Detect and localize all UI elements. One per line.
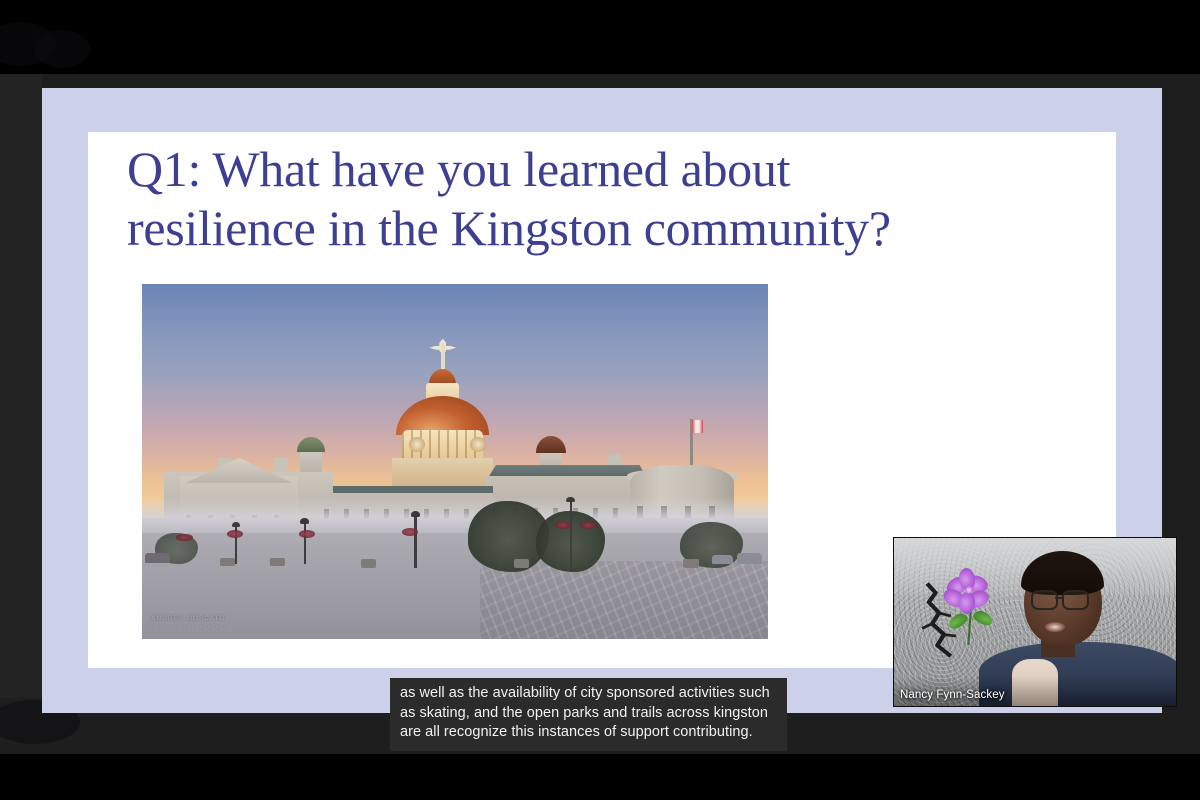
- planter: [361, 559, 376, 568]
- lamp-head: [411, 511, 420, 516]
- app-window-left-gutter: [0, 74, 42, 698]
- cobblestone-texture: [480, 561, 768, 639]
- live-caption-box: as well as the availability of city spon…: [390, 678, 787, 751]
- hanging-flower-basket: [402, 528, 418, 536]
- canada-flag-icon: [692, 420, 703, 433]
- flower-center: [965, 586, 973, 594]
- hanging-flower-basket: [227, 530, 243, 538]
- glasses-icon: [1031, 590, 1058, 610]
- lamp-head: [232, 522, 241, 527]
- participant-video-tile[interactable]: Nancy Fynn-Sackey: [893, 537, 1177, 707]
- spire: [441, 343, 445, 371]
- lamp-head: [566, 497, 575, 502]
- parked-car: [712, 555, 733, 565]
- planter: [514, 559, 529, 568]
- bezel-artifact: [34, 30, 90, 68]
- lamp-head: [300, 518, 309, 523]
- kingston-city-hall-photo: ANDREA MOSCATO L A N D S C A P E S: [142, 284, 768, 639]
- photo-watermark-sub: L A N D S C A P E S: [151, 623, 229, 631]
- participant-mouth: [1045, 622, 1065, 632]
- photo-watermark: ANDREA MOSCATO L A N D S C A P E S: [151, 615, 229, 631]
- planter: [220, 558, 235, 567]
- planter: [683, 559, 698, 568]
- photo-watermark-name: ANDREA MOSCATO: [151, 615, 229, 623]
- lamp-post: [414, 515, 417, 568]
- parked-car: [145, 553, 170, 562]
- slide-title: Q1: What have you learned about resilien…: [127, 140, 1077, 258]
- glasses-bridge: [1055, 597, 1062, 599]
- hanging-flower-basket: [299, 530, 315, 538]
- lamp-post: [570, 501, 573, 572]
- participant-name-label: Nancy Fynn-Sackey: [900, 689, 1005, 701]
- participant-video-feed: Nancy Fynn-Sackey: [894, 538, 1176, 706]
- parked-car: [737, 553, 762, 564]
- hanging-flower-basket: [176, 534, 192, 542]
- glasses-icon: [1062, 590, 1089, 610]
- lamp-post: [304, 522, 307, 565]
- planter: [270, 558, 285, 567]
- screen-recording-frame: Q1: What have you learned about resilien…: [0, 0, 1200, 800]
